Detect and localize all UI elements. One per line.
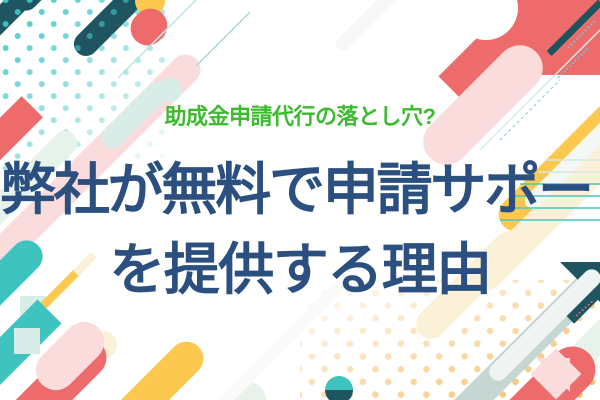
banner-subtitle: 助成金申請代行の落とし穴?: [0, 106, 600, 128]
banner-text-layer: 助成金申請代行の落とし穴? 弊社が無料で申請サポート を提供する理由: [0, 0, 600, 400]
banner-headline-line-1: 弊社が無料で申請サポート: [0, 162, 600, 218]
banner-headline-line-2: を提供する理由: [0, 242, 600, 298]
banner-canvas: 助成金申請代行の落とし穴? 弊社が無料で申請サポート を提供する理由: [0, 0, 600, 400]
